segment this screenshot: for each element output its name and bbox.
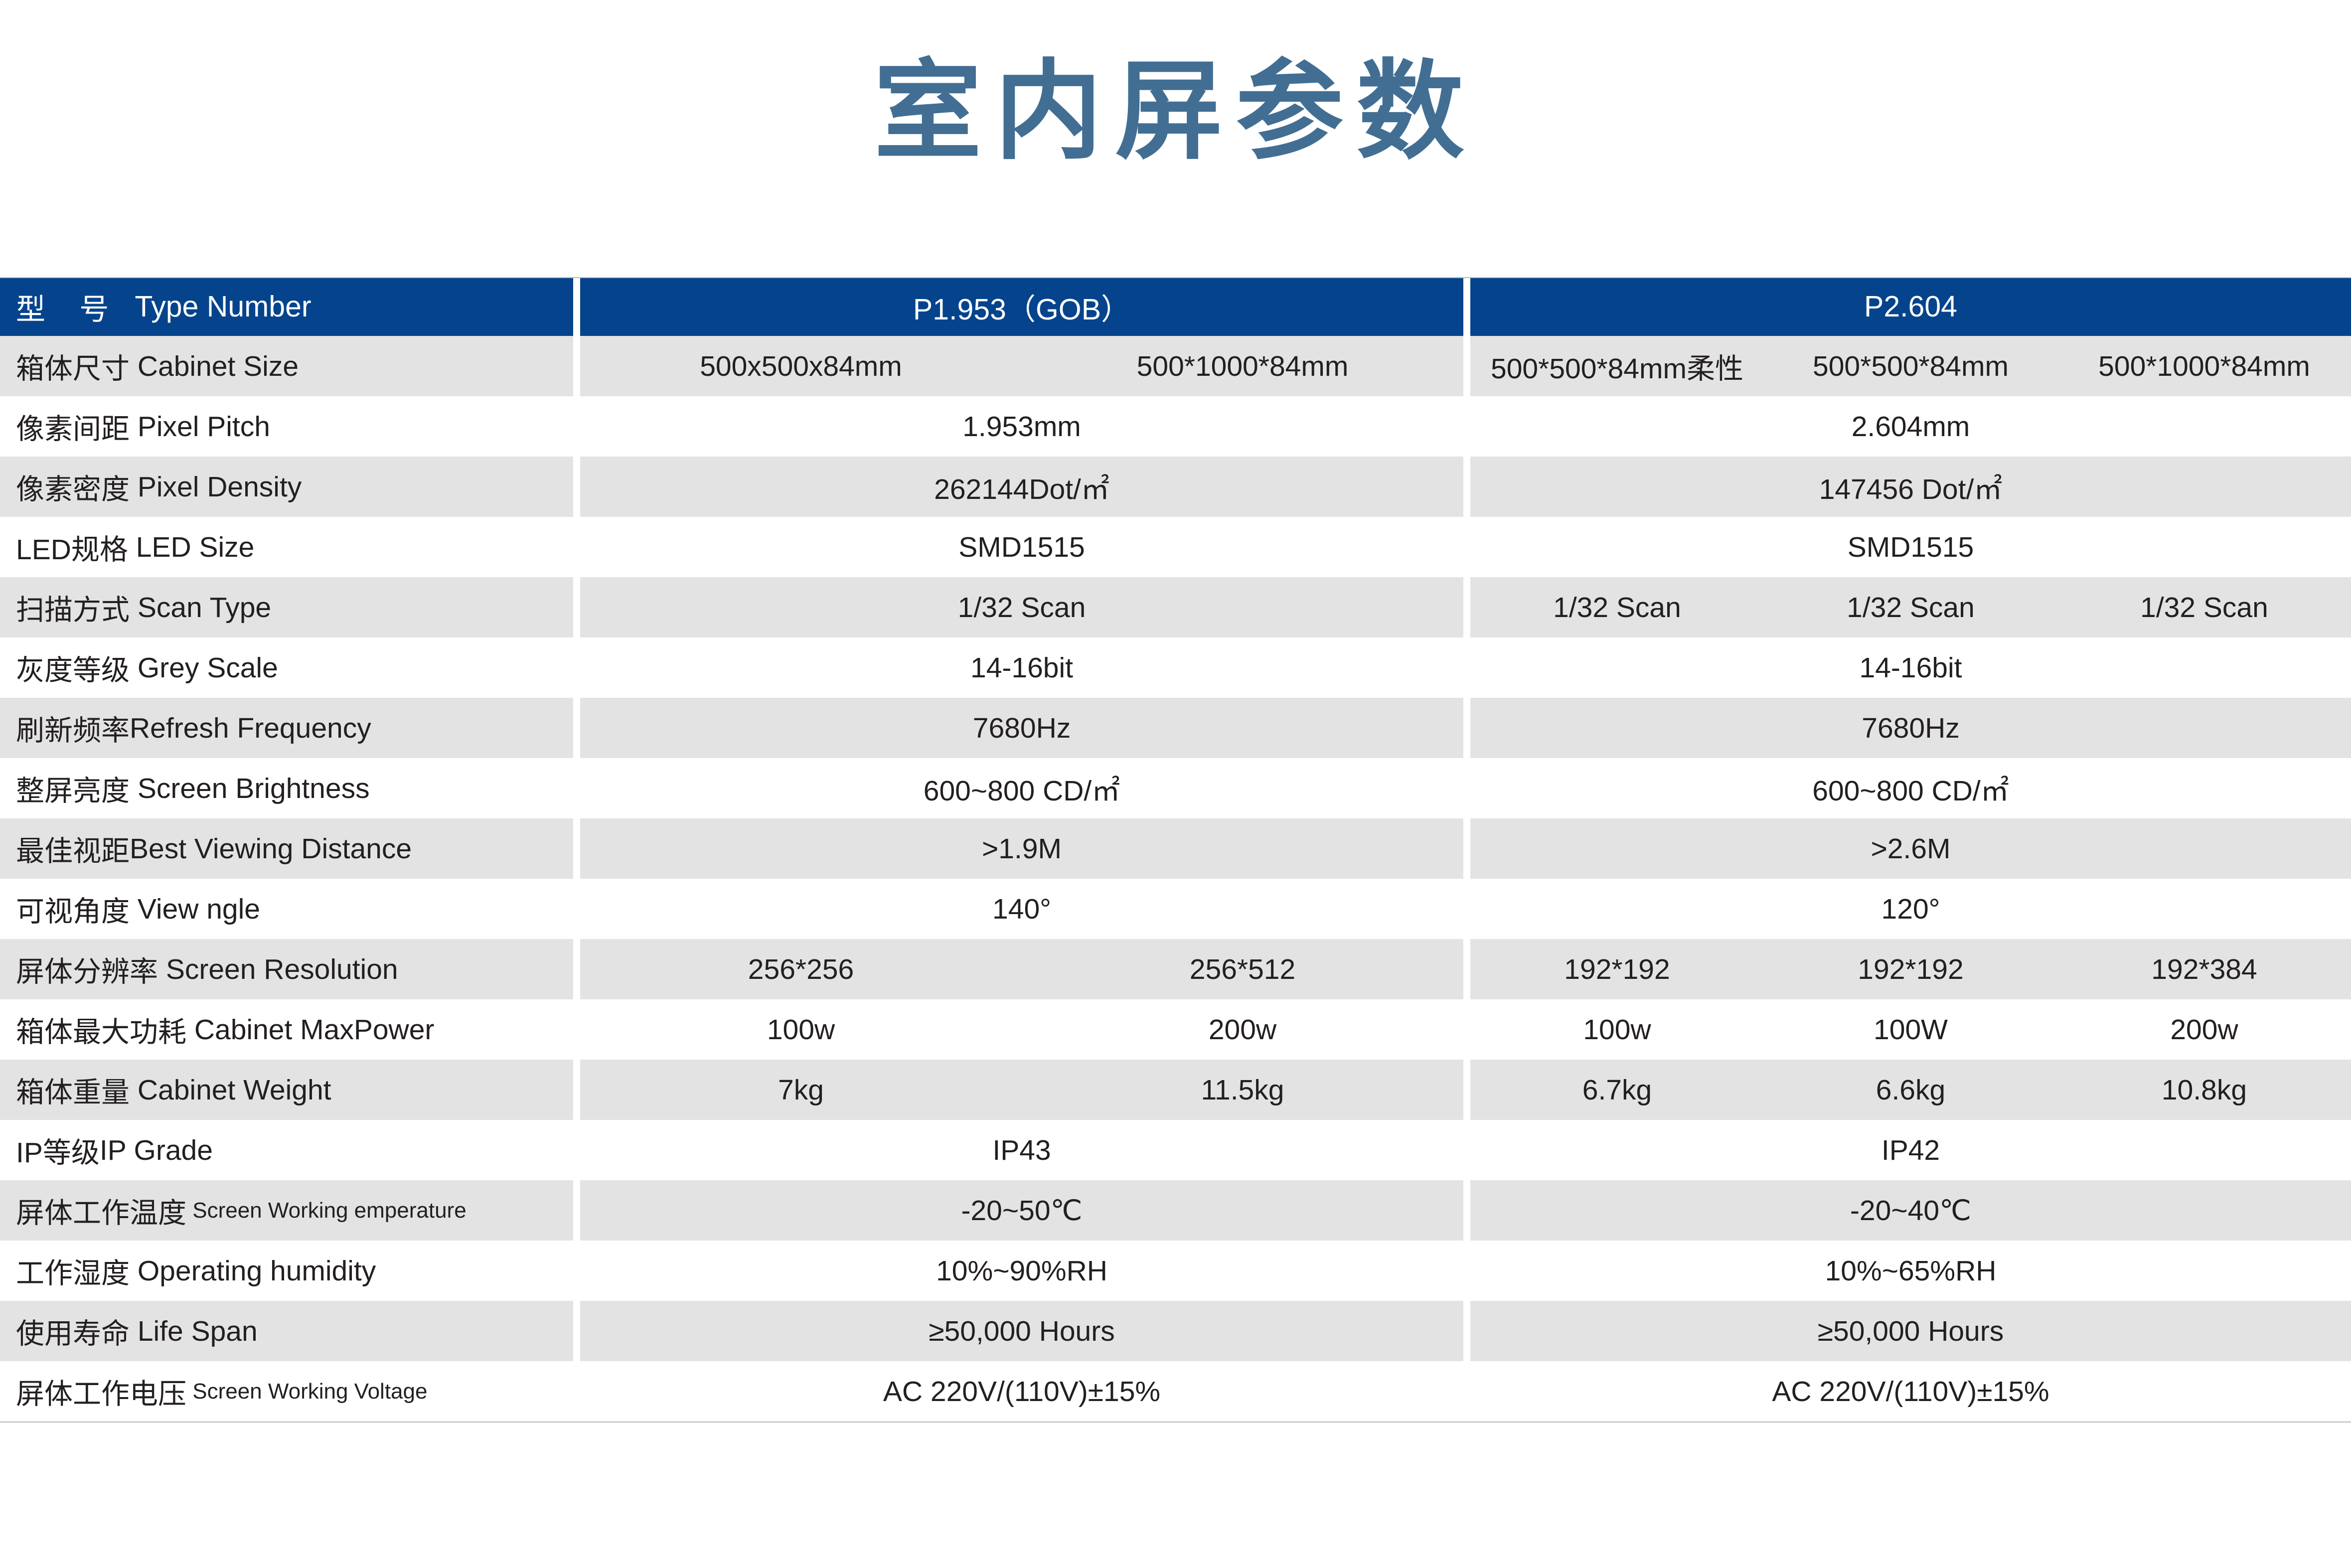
value-group-p2604: 14-16bit (1470, 637, 2351, 698)
column-gap (573, 637, 580, 698)
column-gap (573, 758, 580, 818)
value-cell: 600~800 CD/㎡ (1470, 758, 2351, 818)
row-label-en: View ngle (130, 893, 260, 926)
value-cell: 10%~90%RH (580, 1241, 1463, 1301)
column-gap (1463, 999, 1470, 1060)
row-label: 像素密度 Pixel Density (0, 457, 573, 517)
value-cell: SMD1515 (1470, 517, 2351, 577)
model-header-p1953: P1.953（GOB） (580, 277, 1463, 336)
value-group-p2604: 100w100W200w (1470, 999, 2351, 1060)
value-group-p1953: AC 220V/(110V)±15% (580, 1361, 1463, 1421)
row-label-cjk: 刷新频率 (16, 708, 130, 749)
column-gap (573, 517, 580, 577)
value-cell: 147456 Dot/㎡ (1470, 457, 2351, 517)
row-label-en: Screen Working emperature (186, 1198, 467, 1223)
table-header-row: 型 号Type NumberP1.953（GOB）P2.604 (0, 277, 2351, 336)
row-label-en: Screen Brightness (130, 772, 370, 805)
row-label-en: Screen Working Voltage (186, 1379, 427, 1404)
column-gap (573, 457, 580, 517)
column-gap (573, 999, 580, 1060)
value-cell: 500x500x84mm (580, 336, 1022, 396)
table-row: 屏体工作温度 Screen Working emperature-20~50℃-… (0, 1180, 2351, 1241)
value-cell: 500*500*84mm柔性 (1470, 336, 1764, 396)
column-gap (1463, 1361, 1470, 1421)
value-group-p2604: 192*192192*192192*384 (1470, 939, 2351, 999)
row-label: IP等级IP Grade (0, 1120, 573, 1180)
row-label: 屏体工作电压 Screen Working Voltage (0, 1361, 573, 1421)
value-cell: 100w (580, 999, 1022, 1060)
value-cell: 500*1000*84mm (1022, 336, 1463, 396)
value-group-p1953: 100w200w (580, 999, 1463, 1060)
table-row: IP等级IP GradeIP43IP42 (0, 1120, 2351, 1180)
value-cell: 256*256 (580, 939, 1022, 999)
column-gap (1463, 939, 1470, 999)
row-label: LED规格 LED Size (0, 517, 573, 577)
value-cell: 500*500*84mm (1764, 336, 2057, 396)
value-cell: 140° (580, 879, 1463, 939)
value-group-p2604: 600~800 CD/㎡ (1470, 758, 2351, 818)
row-label-en: Pixel Density (130, 470, 302, 503)
column-gap (573, 1241, 580, 1301)
value-group-p1953: 500x500x84mm500*1000*84mm (580, 336, 1463, 396)
row-label-en: Cabinet MaxPower (186, 1013, 434, 1046)
value-group-p1953: 140° (580, 879, 1463, 939)
model-name-p1953: P1.953（GOB） (580, 277, 1463, 336)
value-cell: 10%~65%RH (1470, 1241, 2351, 1301)
row-label-en: Pixel Pitch (130, 410, 270, 443)
row-label: 像素间距 Pixel Pitch (0, 396, 573, 457)
value-cell: 192*192 (1764, 939, 2057, 999)
value-group-p2604: 2.604mm (1470, 396, 2351, 457)
value-group-p2604: -20~40℃ (1470, 1180, 2351, 1241)
value-cell: 2.604mm (1470, 396, 2351, 457)
column-gap (573, 879, 580, 939)
row-label-en: Refresh Frequency (130, 712, 371, 745)
table-row: 工作湿度 Operating humidity10%~90%RH10%~65%R… (0, 1241, 2351, 1301)
column-gap (1463, 277, 1470, 336)
row-label-en: Life Span (130, 1315, 258, 1348)
table-row: 使用寿命 Life Span≥50,000 Hours≥50,000 Hours (0, 1301, 2351, 1361)
column-gap (1463, 517, 1470, 577)
value-group-p2604: 10%~65%RH (1470, 1241, 2351, 1301)
table-row: 整屏亮度 Screen Brightness600~800 CD/㎡600~80… (0, 758, 2351, 818)
row-label: 屏体工作温度 Screen Working emperature (0, 1180, 573, 1241)
value-cell: >2.6M (1470, 818, 2351, 879)
value-group-p2604: 6.7kg6.6kg10.8kg (1470, 1060, 2351, 1120)
row-label: 灰度等级 Grey Scale (0, 637, 573, 698)
row-label-cjk: 最佳视距 (16, 828, 130, 869)
value-group-p2604: 500*500*84mm柔性500*500*84mm500*1000*84mm (1470, 336, 2351, 396)
row-label-cjk: 扫描方式 (16, 587, 130, 628)
value-group-p1953: SMD1515 (580, 517, 1463, 577)
value-cell: 14-16bit (580, 637, 1463, 698)
value-cell: 100W (1764, 999, 2057, 1060)
column-gap (573, 277, 580, 336)
value-cell: 7680Hz (1470, 698, 2351, 758)
value-group-p1953: >1.9M (580, 818, 1463, 879)
row-label: 箱体最大功耗 Cabinet MaxPower (0, 999, 573, 1060)
value-group-p1953: 256*256256*512 (580, 939, 1463, 999)
column-gap (573, 939, 580, 999)
value-group-p2604: >2.6M (1470, 818, 2351, 879)
page-title: 室内屏参数 (0, 55, 2351, 168)
row-label-cjk: 箱体重量 (16, 1070, 130, 1110)
value-cell: -20~50℃ (580, 1180, 1463, 1241)
column-gap (573, 577, 580, 637)
value-cell: >1.9M (580, 818, 1463, 879)
column-gap (1463, 577, 1470, 637)
column-gap (1463, 457, 1470, 517)
value-group-p2604: 1/32 Scan1/32 Scan1/32 Scan (1470, 577, 2351, 637)
value-cell: 1.953mm (580, 396, 1463, 457)
value-cell: AC 220V/(110V)±15% (580, 1361, 1463, 1421)
value-cell: 1/32 Scan (580, 577, 1463, 637)
row-label-cjk: 整屏亮度 (16, 768, 130, 809)
header-label-cjk: 型 号 (16, 286, 122, 328)
value-cell: SMD1515 (580, 517, 1463, 577)
model-header-p2604: P2.604 (1470, 277, 2351, 336)
value-cell: 7680Hz (580, 698, 1463, 758)
column-gap (1463, 698, 1470, 758)
column-gap (573, 1361, 580, 1421)
column-gap (1463, 336, 1470, 396)
table-row: 可视角度 View ngle140°120° (0, 879, 2351, 939)
value-cell: 192*384 (2057, 939, 2351, 999)
value-group-p1953: 7680Hz (580, 698, 1463, 758)
value-cell: 1/32 Scan (1470, 577, 1764, 637)
value-group-p2604: IP42 (1470, 1120, 2351, 1180)
value-cell: 256*512 (1022, 939, 1463, 999)
value-cell: IP42 (1470, 1120, 2351, 1180)
value-group-p1953: 1.953mm (580, 396, 1463, 457)
row-label: 刷新频率Refresh Frequency (0, 698, 573, 758)
row-label-cjk: IP等级 (16, 1130, 100, 1171)
value-group-p2604: 7680Hz (1470, 698, 2351, 758)
value-cell: ≥50,000 Hours (1470, 1301, 2351, 1361)
row-label: 箱体重量 Cabinet Weight (0, 1060, 573, 1120)
value-cell: 500*1000*84mm (2057, 336, 2351, 396)
column-gap (1463, 1180, 1470, 1241)
column-gap (573, 336, 580, 396)
table-row: 最佳视距Best Viewing Distance>1.9M>2.6M (0, 818, 2351, 879)
row-label-en: Grey Scale (130, 651, 278, 684)
row-label: 最佳视距Best Viewing Distance (0, 818, 573, 879)
row-label: 可视角度 View ngle (0, 879, 573, 939)
value-group-p2604: 120° (1470, 879, 2351, 939)
value-group-p1953: 262144Dot/㎡ (580, 457, 1463, 517)
row-label-en: Scan Type (130, 591, 271, 624)
value-group-p1953: 10%~90%RH (580, 1241, 1463, 1301)
row-label-cjk: 箱体最大功耗 (16, 1009, 186, 1050)
value-cell: 1/32 Scan (2057, 577, 2351, 637)
table-row: 屏体工作电压 Screen Working VoltageAC 220V/(11… (0, 1361, 2351, 1421)
row-label-cjk: 像素密度 (16, 467, 130, 507)
value-cell: AC 220V/(110V)±15% (1470, 1361, 2351, 1421)
value-group-p2604: 147456 Dot/㎡ (1470, 457, 2351, 517)
table-row: 像素密度 Pixel Density262144Dot/㎡147456 Dot/… (0, 457, 2351, 517)
row-label-en: Cabinet Size (130, 350, 299, 383)
column-gap (1463, 396, 1470, 457)
column-gap (1463, 879, 1470, 939)
row-label-cjk: 箱体尺寸 (16, 346, 130, 387)
value-cell: 10.8kg (2057, 1060, 2351, 1120)
table-row: 屏体分辨率 Screen Resolution256*256256*512192… (0, 939, 2351, 999)
row-label-cjk: 灰度等级 (16, 647, 130, 688)
row-label: 箱体尺寸 Cabinet Size (0, 336, 573, 396)
row-label-cjk: 像素间距 (16, 406, 130, 447)
row-label-cjk: 屏体分辨率 (16, 949, 158, 990)
value-cell: 120° (1470, 879, 2351, 939)
table-row: 灰度等级 Grey Scale14-16bit14-16bit (0, 637, 2351, 698)
column-gap (573, 1301, 580, 1361)
value-cell: 192*192 (1470, 939, 1764, 999)
table-row: 扫描方式 Scan Type1/32 Scan1/32 Scan1/32 Sca… (0, 577, 2351, 637)
value-cell: 6.7kg (1470, 1060, 1764, 1120)
row-label-cjk: 屏体工作电压 (16, 1371, 186, 1412)
table-row: 箱体尺寸 Cabinet Size500x500x84mm500*1000*84… (0, 336, 2351, 396)
header-label-type-number: 型 号Type Number (0, 277, 573, 336)
row-label-cjk: LED规格 (16, 527, 128, 568)
row-label-cjk: 屏体工作温度 (16, 1190, 186, 1231)
value-cell: 200w (2057, 999, 2351, 1060)
row-label-en: Operating humidity (130, 1254, 376, 1287)
table-row: 刷新频率Refresh Frequency7680Hz7680Hz (0, 698, 2351, 758)
column-gap (1463, 637, 1470, 698)
value-group-p1953: 1/32 Scan (580, 577, 1463, 637)
table-row: 箱体最大功耗 Cabinet MaxPower100w200w100w100W2… (0, 999, 2351, 1060)
row-divider (0, 277, 2351, 278)
header-label-en: Type Number (135, 290, 311, 323)
value-group-p1953: IP43 (580, 1120, 1463, 1180)
row-label-cjk: 工作湿度 (16, 1251, 130, 1291)
value-cell: 100w (1470, 999, 1764, 1060)
row-label: 屏体分辨率 Screen Resolution (0, 939, 573, 999)
row-label-cjk: 可视角度 (16, 889, 130, 930)
value-group-p1953: 7kg11.5kg (580, 1060, 1463, 1120)
table-row: 箱体重量 Cabinet Weight7kg11.5kg6.7kg6.6kg10… (0, 1060, 2351, 1120)
row-label-en: LED Size (128, 531, 254, 564)
value-group-p1953: 600~800 CD/㎡ (580, 758, 1463, 818)
row-label-en: IP Grade (100, 1134, 213, 1167)
row-label: 整屏亮度 Screen Brightness (0, 758, 573, 818)
value-cell: ≥50,000 Hours (580, 1301, 1463, 1361)
value-group-p1953: ≥50,000 Hours (580, 1301, 1463, 1361)
column-gap (1463, 1241, 1470, 1301)
value-group-p2604: ≥50,000 Hours (1470, 1301, 2351, 1361)
column-gap (573, 698, 580, 758)
row-label: 工作湿度 Operating humidity (0, 1241, 573, 1301)
column-gap (1463, 758, 1470, 818)
value-cell: -20~40℃ (1470, 1180, 2351, 1241)
row-label-cjk: 使用寿命 (16, 1311, 130, 1352)
column-gap (1463, 1120, 1470, 1180)
table-bottom-rule (0, 1421, 2351, 1422)
row-label: 使用寿命 Life Span (0, 1301, 573, 1361)
value-group-p1953: 14-16bit (580, 637, 1463, 698)
value-cell: 11.5kg (1022, 1060, 1463, 1120)
value-group-p2604: SMD1515 (1470, 517, 2351, 577)
spec-sheet-page: 室内屏参数 型 号Type NumberP1.953（GOB）P2.604箱体尺… (0, 0, 2351, 1568)
value-cell: IP43 (580, 1120, 1463, 1180)
value-cell: 600~800 CD/㎡ (580, 758, 1463, 818)
column-gap (1463, 818, 1470, 879)
spec-table: 型 号Type NumberP1.953（GOB）P2.604箱体尺寸 Cabi… (0, 277, 2351, 1422)
value-cell: 14-16bit (1470, 637, 2351, 698)
column-gap (573, 1120, 580, 1180)
column-gap (573, 1180, 580, 1241)
column-gap (573, 818, 580, 879)
column-gap (1463, 1060, 1470, 1120)
value-group-p1953: -20~50℃ (580, 1180, 1463, 1241)
row-label-en: Best Viewing Distance (130, 832, 412, 865)
column-gap (573, 1060, 580, 1120)
value-cell: 7kg (580, 1060, 1022, 1120)
value-cell: 262144Dot/㎡ (580, 457, 1463, 517)
value-cell: 200w (1022, 999, 1463, 1060)
model-name-p2604: P2.604 (1470, 277, 2351, 336)
column-gap (573, 396, 580, 457)
column-gap (1463, 1301, 1470, 1361)
table-row: 像素间距 Pixel Pitch1.953mm2.604mm (0, 396, 2351, 457)
row-label-en: Screen Resolution (158, 953, 398, 986)
value-group-p2604: AC 220V/(110V)±15% (1470, 1361, 2351, 1421)
value-cell: 6.6kg (1764, 1060, 2057, 1120)
row-label-en: Cabinet Weight (130, 1074, 331, 1106)
row-label: 扫描方式 Scan Type (0, 577, 573, 637)
table-row: LED规格 LED SizeSMD1515SMD1515 (0, 517, 2351, 577)
value-cell: 1/32 Scan (1764, 577, 2057, 637)
